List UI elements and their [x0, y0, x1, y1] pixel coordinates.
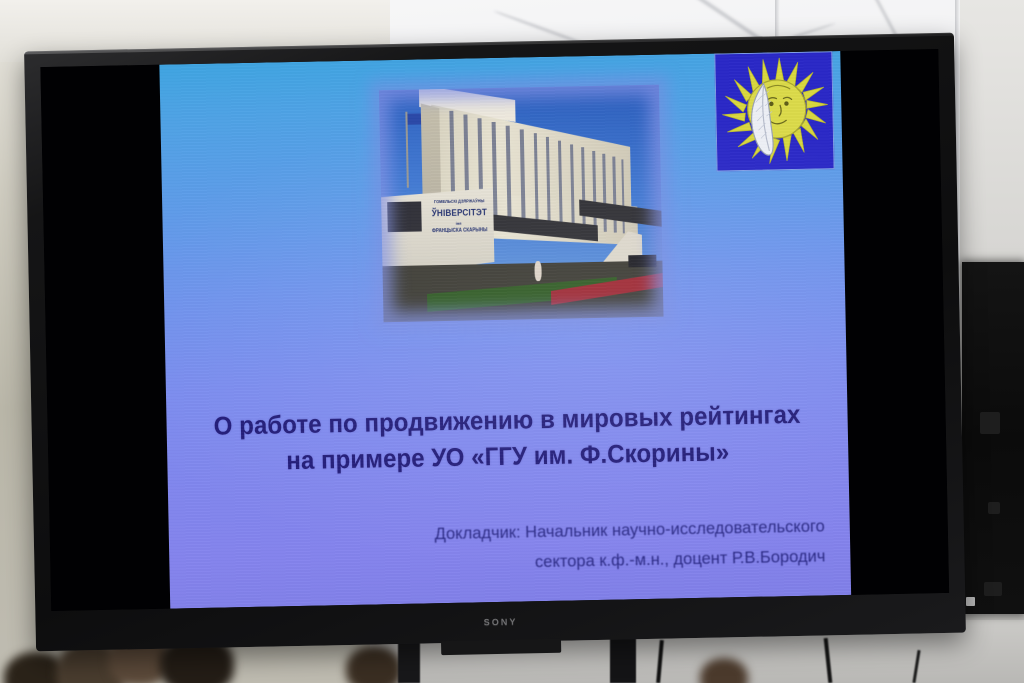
- building-sign-line-2: ЎНІВЕРСІТЭТ: [429, 207, 490, 218]
- tv-stand-post: [398, 640, 420, 683]
- side-equipment-panel: [962, 262, 1024, 614]
- gsu-sun-emblem-logo: [714, 51, 834, 171]
- slide-title: О работе по продвижению в мировых рейтин…: [187, 396, 828, 481]
- tv-stand-neck: [441, 639, 561, 655]
- audience-person: [346, 646, 402, 683]
- presentation-slide: ГОМЕЛЬСКІ ДЗЯРЖАЎНЫ ЎНІВЕРСІТЭТ імя ФРАН…: [159, 51, 851, 609]
- slide-speaker-byline: Докладчик: Начальник научно-исследовател…: [281, 511, 825, 582]
- building-sign-line-3: імя: [443, 220, 474, 226]
- letterbox-left: [40, 65, 171, 611]
- tv-stand-post: [610, 636, 636, 683]
- sony-brand-label: SONY: [484, 617, 518, 628]
- tv-screen[interactable]: ГОМЕЛЬСКІ ДЗЯРЖАЎНЫ ЎНІВЕРСІТЭТ імя ФРАН…: [40, 49, 949, 611]
- letterbox-right: [838, 49, 949, 595]
- television[interactable]: ГОМЕЛЬСКІ ДЗЯРЖАЎНЫ ЎНІВЕРСІТЭТ імя ФРАН…: [24, 33, 966, 652]
- building-sign-line-4: ФРАНЦЫСКА СКАРЫНЫ: [429, 227, 490, 234]
- university-building-photo: ГОМЕЛЬСКІ ДЗЯРЖАЎНЫ ЎНІВЕРСІТЭТ імя ФРАН…: [379, 85, 664, 323]
